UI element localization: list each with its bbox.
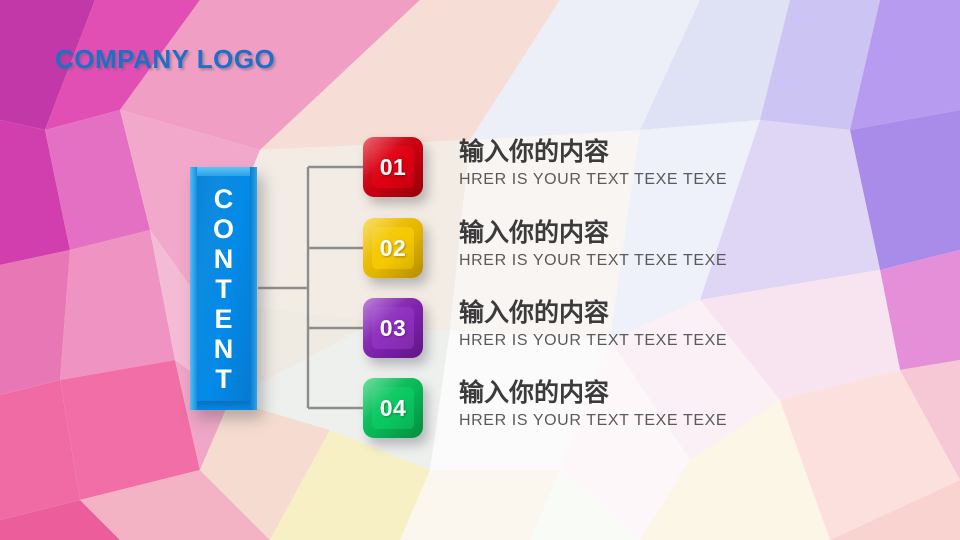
background-polygon-pattern (0, 0, 960, 540)
item-title: 输入你的内容 (459, 378, 727, 408)
banner-letter: C (214, 184, 234, 214)
item-subtitle: HRER IS YOUR TEXT TEXE TEXE (459, 252, 727, 270)
item-subtitle: HRER IS YOUR TEXT TEXE TEXE (459, 412, 727, 430)
company-logo: COMPANY LOGO (55, 44, 275, 75)
banner-label: C O N T E N T (190, 167, 257, 410)
item-text-block: 输入你的内容 HRER IS YOUR TEXT TEXE TEXE (459, 298, 727, 350)
badge-number: 04 (380, 395, 407, 422)
slide-canvas: COMPANY LOGO C O N T E N T (0, 0, 960, 540)
number-badge-02[interactable]: 02 (363, 218, 423, 278)
banner-letter: N (214, 244, 234, 274)
item-title: 输入你的内容 (459, 218, 727, 248)
content-banner[interactable]: C O N T E N T (190, 167, 257, 410)
item-subtitle: HRER IS YOUR TEXT TEXE TEXE (459, 332, 727, 350)
item-subtitle: HRER IS YOUR TEXT TEXE TEXE (459, 171, 727, 189)
banner-letter: E (214, 304, 232, 334)
banner-letter: T (215, 364, 232, 394)
banner-letter: T (215, 274, 232, 304)
item-title: 输入你的内容 (459, 137, 727, 167)
badge-number: 02 (380, 235, 407, 262)
banner-letter: O (213, 214, 234, 244)
item-text-block: 输入你的内容 HRER IS YOUR TEXT TEXE TEXE (459, 378, 727, 430)
badge-number: 01 (380, 154, 407, 181)
number-badge-03[interactable]: 03 (363, 298, 423, 358)
number-badge-04[interactable]: 04 (363, 378, 423, 438)
number-badge-01[interactable]: 01 (363, 137, 423, 197)
item-title: 输入你的内容 (459, 298, 727, 328)
item-text-block: 输入你的内容 HRER IS YOUR TEXT TEXE TEXE (459, 218, 727, 270)
badge-number: 03 (380, 315, 407, 342)
banner-letter: N (214, 334, 234, 364)
item-text-block: 输入你的内容 HRER IS YOUR TEXT TEXE TEXE (459, 137, 727, 189)
